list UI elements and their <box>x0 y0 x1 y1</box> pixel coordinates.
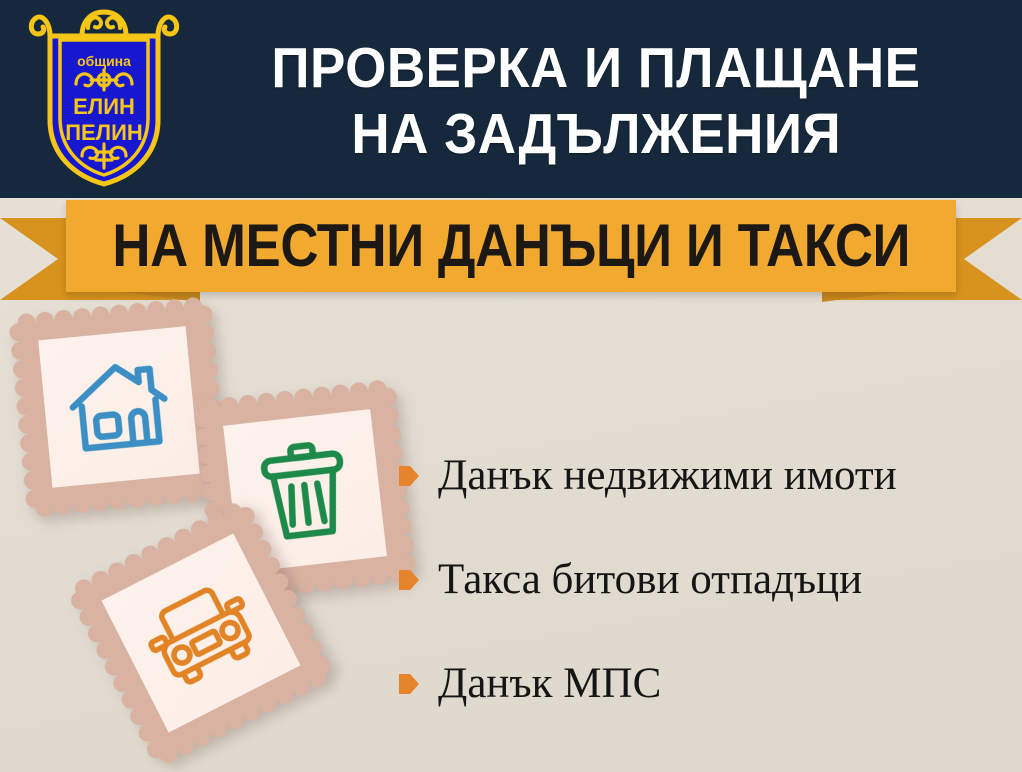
coat-of-arms-icon: община ЕЛИН ПЕЛИН <box>24 8 184 190</box>
bullet-arrow-icon <box>398 567 420 593</box>
title-line-2: НА ЗАДЪЛЖЕНИЯ <box>351 101 841 167</box>
list-item-label: Данък МПС <box>438 661 661 706</box>
list-item[interactable]: Данък МПС <box>398 632 1012 736</box>
logo-name-line1: ЕЛИН <box>73 94 135 119</box>
list-item[interactable]: Данък недвижими имоти <box>398 424 1012 528</box>
list-item-label: Такса битови отпадъци <box>438 557 862 602</box>
list-item-label: Данък недвижими имоти <box>438 453 897 498</box>
bullet-arrow-icon <box>398 671 420 697</box>
stamp-face-property <box>38 326 200 488</box>
municipality-logo: община ЕЛИН ПЕЛИН <box>24 8 184 190</box>
poster-canvas: община ЕЛИН ПЕЛИН <box>0 0 1022 772</box>
house-icon <box>63 354 176 460</box>
ribbon-label: НА МЕСТНИ ДАНЪЦИ И ТАКСИ <box>112 216 910 276</box>
subtitle-ribbon: НА МЕСТНИ ДАНЪЦИ И ТАКСИ <box>0 196 1022 308</box>
stamp-card-property <box>18 306 221 509</box>
trash-can-icon <box>254 436 357 546</box>
logo-top-text: община <box>77 53 131 69</box>
tax-type-list: Данък недвижими имоти Такса битови отпад… <box>398 424 1012 736</box>
header-bar: община ЕЛИН ПЕЛИН <box>0 0 1022 198</box>
bullet-arrow-icon <box>398 463 420 489</box>
list-item[interactable]: Такса битови отпадъци <box>398 528 1012 632</box>
ribbon-banner: НА МЕСТНИ ДАНЪЦИ И ТАКСИ <box>66 200 956 292</box>
title-line-1: ПРОВЕРКА И ПЛАЩАНЕ <box>271 35 920 101</box>
logo-name-line2: ПЕЛИН <box>65 120 143 145</box>
stamp-card-group <box>0 300 420 772</box>
page-title: ПРОВЕРКА И ПЛАЩАНЕ НА ЗАДЪЛЖЕНИЯ <box>190 16 1002 186</box>
car-front-icon <box>133 569 269 696</box>
